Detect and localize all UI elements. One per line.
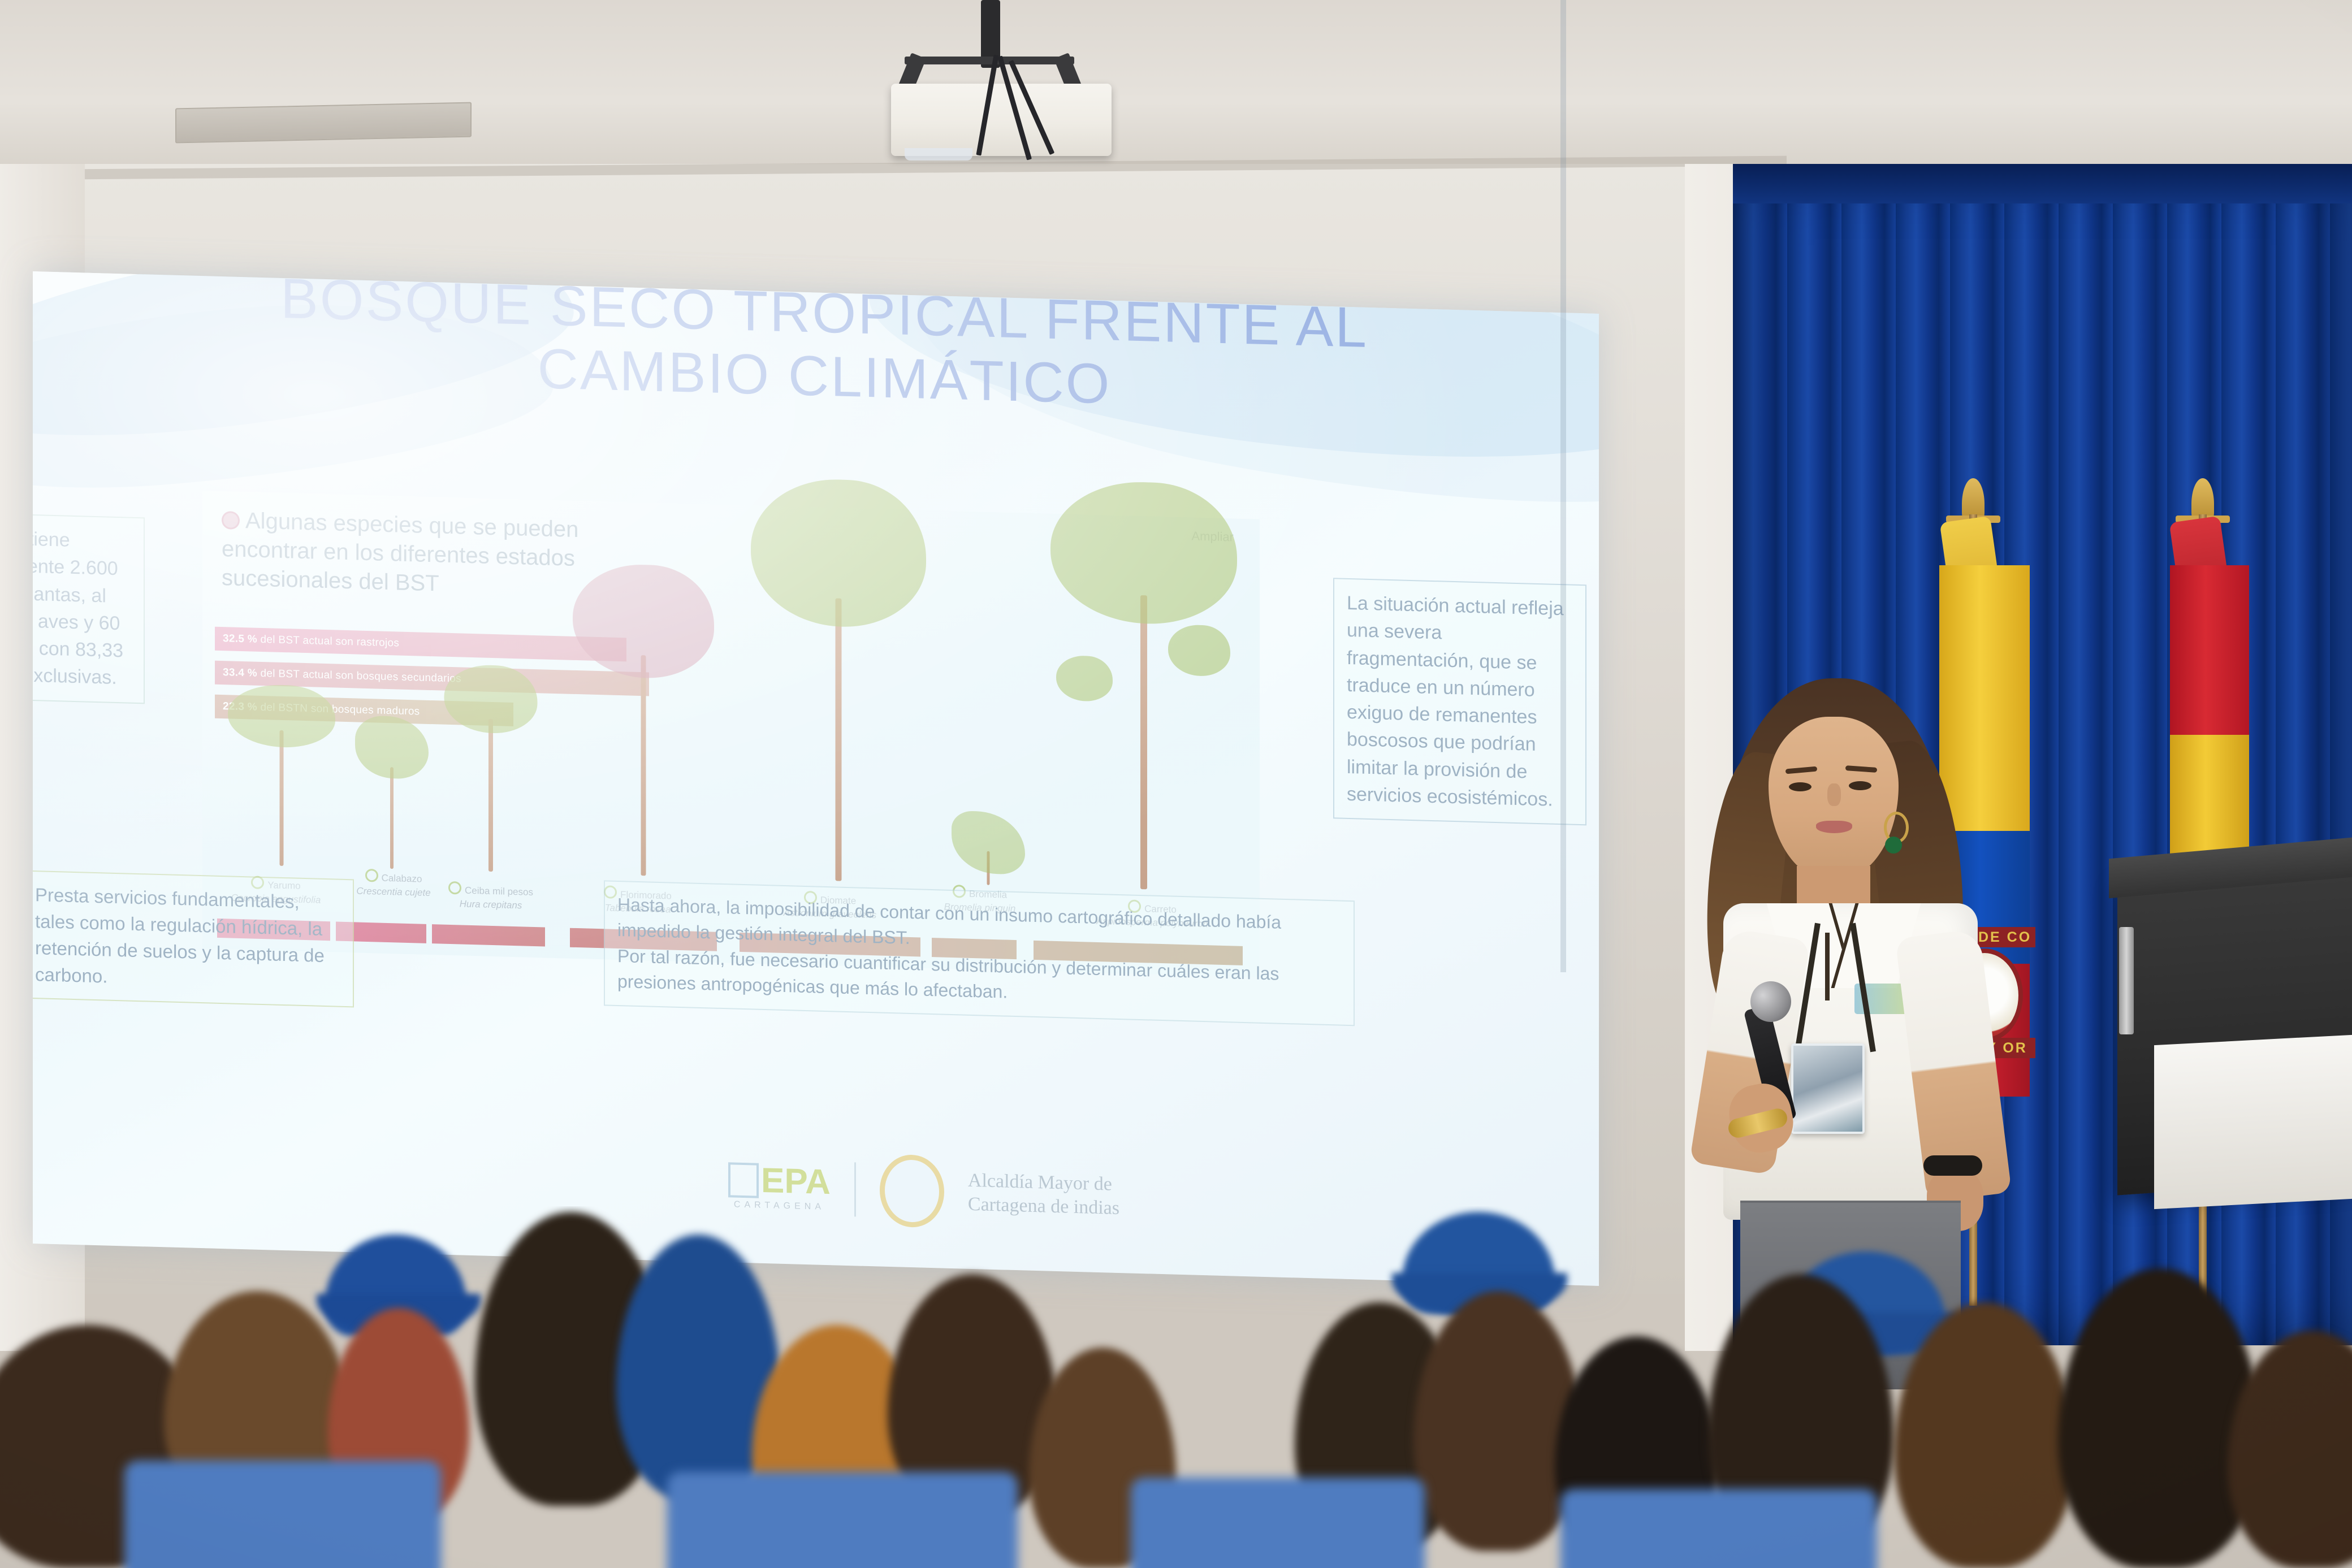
succession-band-2 xyxy=(432,924,545,946)
stat-label-1: del BST actual son rastrojos xyxy=(261,634,400,649)
projector-lens xyxy=(905,148,972,161)
epa-wordmark: EPA xyxy=(761,1165,831,1198)
plant-bromelia xyxy=(943,771,1034,886)
presenter-shirt-placket xyxy=(1825,933,1830,1000)
stat-value-1: 32.5 % xyxy=(223,633,257,646)
audience-chair xyxy=(124,1461,441,1568)
audience-foreground xyxy=(0,1206,2352,1568)
tree-diomate xyxy=(745,483,932,883)
callout-right: La situación actual refleja una severa f… xyxy=(1333,578,1586,825)
stat-value-2: 33.4 % xyxy=(223,666,257,679)
earring-stone-icon xyxy=(1885,837,1902,854)
stat-bar-rastrojos: 32.5 % del BST actual son rastrojos xyxy=(215,627,626,662)
bullet-icon xyxy=(222,511,240,530)
leaf-icon xyxy=(365,869,378,882)
id-badge xyxy=(1791,1043,1865,1134)
ceiling xyxy=(0,0,2352,170)
podium-papers xyxy=(2154,1035,2352,1209)
presenter-eye-left xyxy=(1789,782,1811,791)
projector xyxy=(891,84,1112,156)
tree-calabazo xyxy=(344,726,440,870)
audience-chair xyxy=(1560,1489,1877,1568)
epa-e-glyph xyxy=(728,1162,759,1198)
podium-mic-stalk xyxy=(2119,927,2134,1034)
wrist-watch xyxy=(1923,1155,1982,1176)
tree-carreto xyxy=(1045,468,1243,891)
ceiling-vent xyxy=(175,102,472,144)
alcaldia-line1: Alcaldía Mayor de xyxy=(968,1168,1119,1197)
screen-right-edge xyxy=(1560,0,1566,972)
leaf-icon xyxy=(448,881,461,895)
tree-yarumo xyxy=(219,695,344,868)
audience-head xyxy=(2058,1268,2262,1568)
callout-left-bottom: Presta servicios fundamentales, tales co… xyxy=(33,870,354,1007)
audience-chair xyxy=(1131,1478,1425,1568)
presenter-mouth xyxy=(1816,821,1852,833)
species-label-2: Ceiba mil pesos Hura crepitans xyxy=(429,881,553,914)
inner-heading-text: Algunas especies que se pueden encontrar… xyxy=(222,508,578,596)
tree-florimorado xyxy=(570,569,717,878)
stat-label-2: del BST actual son bosques secundarios xyxy=(261,668,461,685)
tree-ceiba-mil-pesos xyxy=(434,666,547,873)
callout-center-bottom: Hasta ahora, la imposibilidad de contar … xyxy=(604,880,1355,1026)
presenter-nose xyxy=(1827,783,1841,806)
audience-chair xyxy=(667,1472,1018,1568)
callout-left-top: Colombia contiene aproximadamente 2.600 … xyxy=(33,511,145,704)
presenter-eye-right xyxy=(1849,781,1871,790)
epa-logo: EPA CARTAGENA xyxy=(728,1162,831,1212)
photo-scene: BOSQUE SECO TROPICAL FRENTE AL CAMBIO CL… xyxy=(0,0,2352,1568)
inner-figure-heading: Algunas especies que se pueden encontrar… xyxy=(222,506,583,603)
audience-head xyxy=(1413,1291,1583,1551)
projector-bracket xyxy=(905,57,1074,64)
curtain-valance xyxy=(1733,164,2352,203)
projection-screen: BOSQUE SECO TROPICAL FRENTE AL CAMBIO CL… xyxy=(33,271,1599,1286)
